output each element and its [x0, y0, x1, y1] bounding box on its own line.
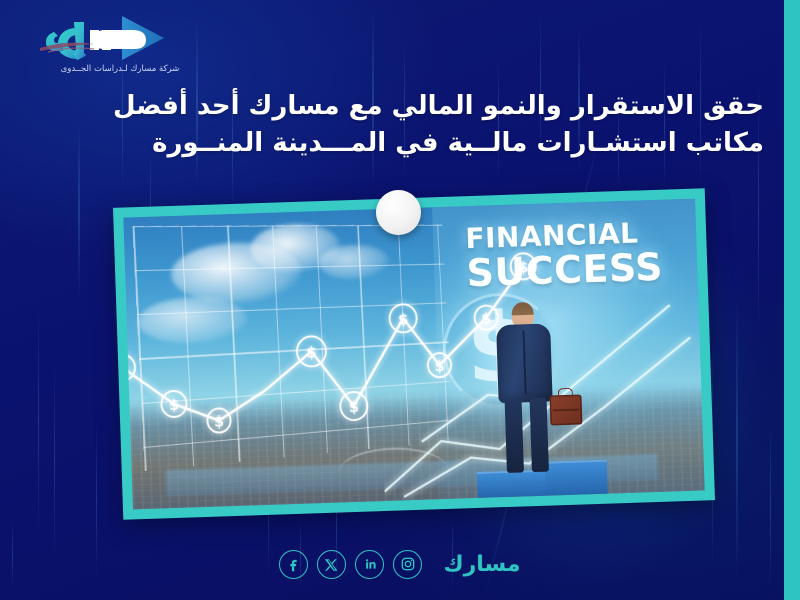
headline-line-2: مكاتب استشـارات مالــية في المـــدينة ال…	[64, 125, 764, 162]
businessman-figure	[479, 301, 573, 486]
x-twitter-icon[interactable]	[317, 550, 346, 579]
svg-text:$: $	[518, 259, 529, 277]
svg-text:$: $	[434, 358, 445, 376]
svg-text:$: $	[306, 344, 317, 362]
svg-text:$: $	[349, 399, 360, 417]
headline-line-1: حقق الاستقرار والنمو المالي مع مسارك أحد…	[113, 91, 764, 121]
facebook-icon[interactable]	[279, 550, 308, 579]
footer-brand-text: مسارك	[443, 552, 520, 577]
briefcase-icon	[550, 395, 583, 426]
right-accent-strip	[784, 0, 800, 600]
brand-logo[interactable]: شركة مسارك لـدراسات الجــدوى	[14, 8, 224, 82]
linkedin-icon[interactable]	[355, 550, 384, 579]
svg-text:$: $	[123, 360, 128, 378]
svg-text:$: $	[214, 413, 225, 431]
chart-line: $ $ $ $ $ $ $ $ $	[123, 199, 704, 510]
hero-card-photo: FINANCIAL SUCCESS	[123, 199, 704, 510]
footer-social-bar: مسارك	[0, 546, 800, 582]
card-pin-circle	[376, 190, 421, 235]
svg-text:$: $	[398, 311, 409, 329]
svg-text:$: $	[169, 397, 180, 415]
hero-card[interactable]: FINANCIAL SUCCESS	[113, 188, 715, 519]
hero-card-frame: FINANCIAL SUCCESS	[113, 188, 715, 519]
figure-legs	[504, 398, 550, 473]
headline: حقق الاستقرار والنمو المالي مع مسارك أحد…	[64, 88, 764, 162]
poster-root: شركة مسارك لـدراسات الجــدوى حقق الاستقر…	[0, 0, 800, 600]
figure-suit	[497, 324, 554, 404]
instagram-icon[interactable]	[393, 550, 422, 579]
logo-subtitle: شركة مسارك لـدراسات الجــدوى	[22, 64, 218, 74]
